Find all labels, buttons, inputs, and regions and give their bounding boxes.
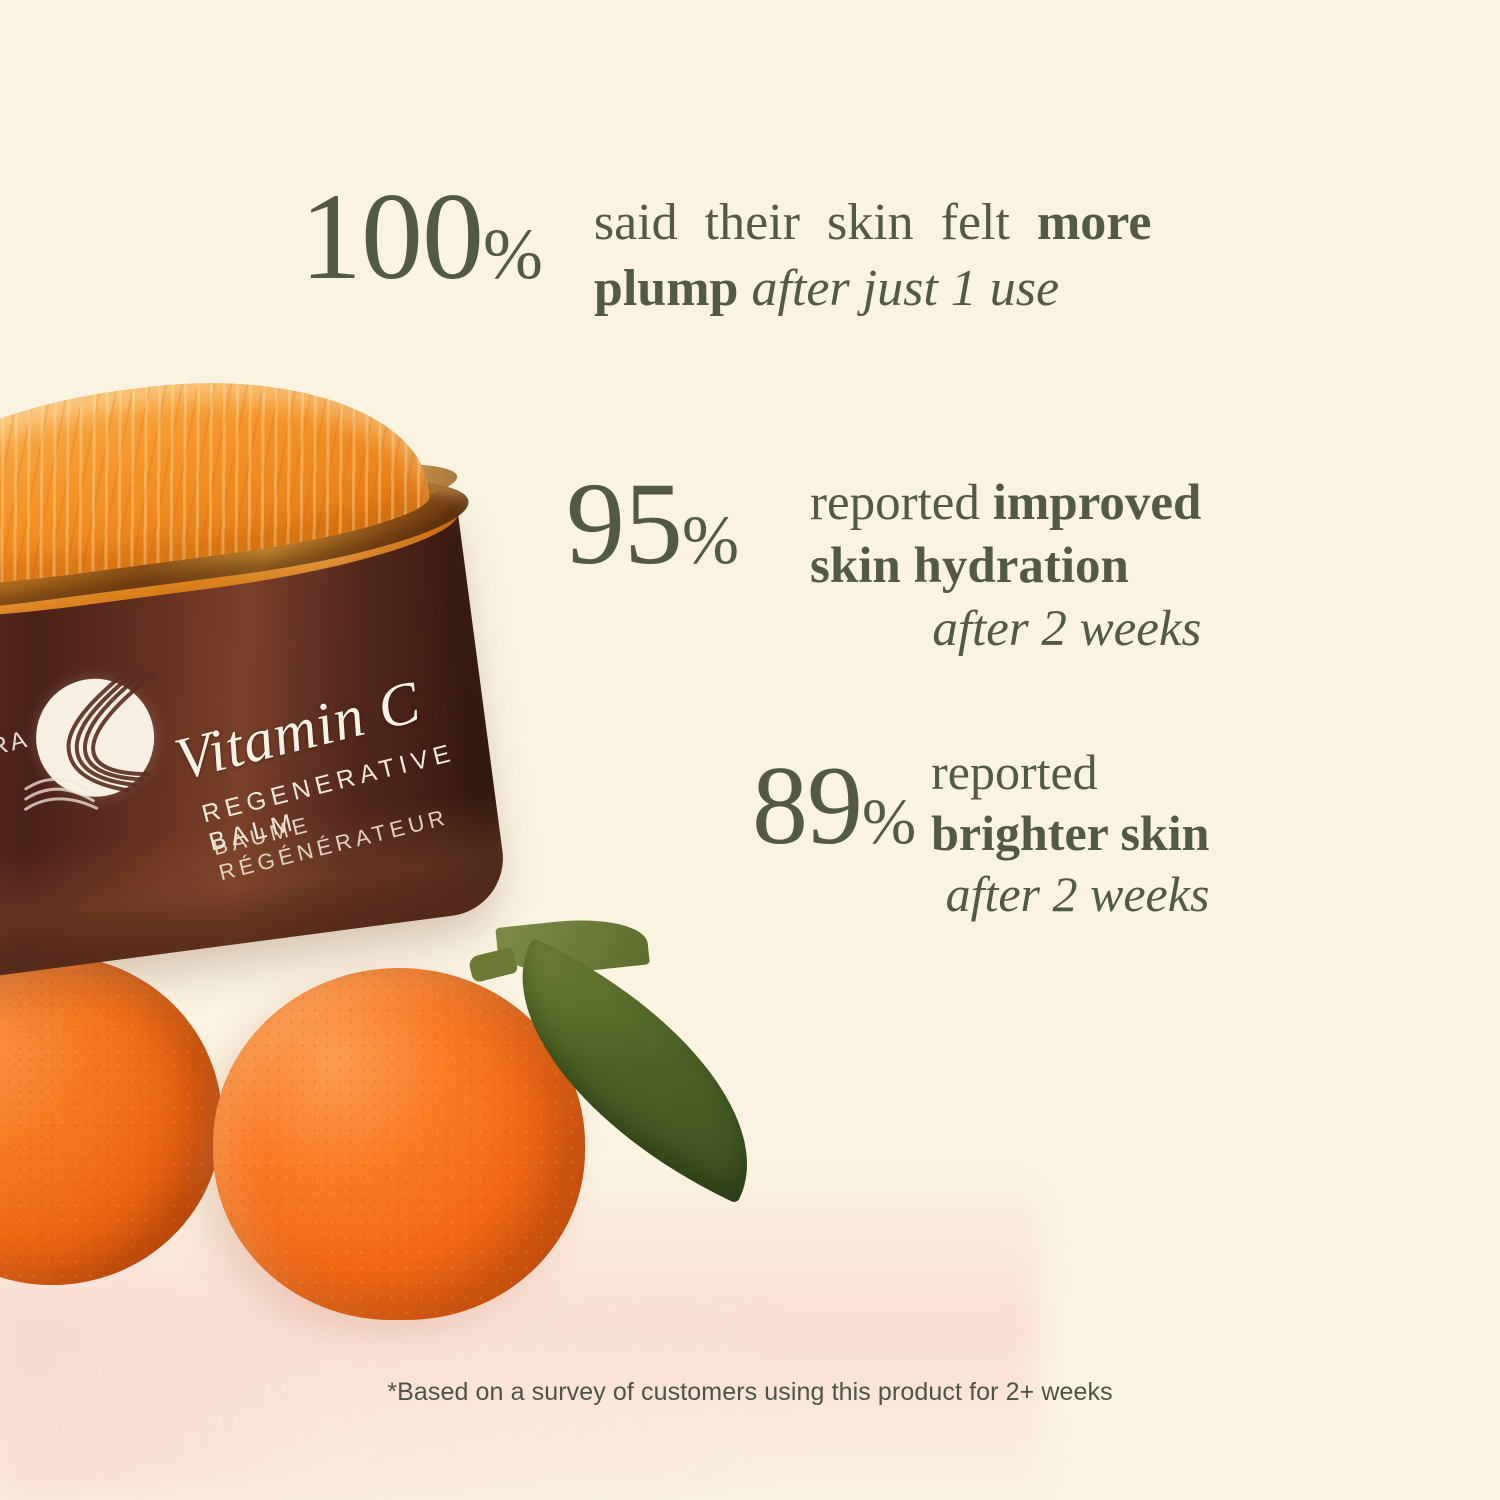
- percent-symbol-icon: %: [862, 786, 915, 858]
- stat-line-2: skin hydration: [810, 535, 1201, 598]
- stat-block-hydration: 95% reported improved skin hydration aft…: [566, 460, 1201, 662]
- stat-copy-brightness: reported brighter skin after 2 weeks: [931, 742, 1209, 925]
- stat-line-1-bold: more: [1037, 194, 1152, 251]
- stat-block-plump: 100% said their skin felt more plump aft…: [300, 168, 1151, 321]
- stat-line-2-italic: after just 1 use: [751, 260, 1059, 317]
- stat-percent-value: 95: [566, 458, 682, 589]
- stat-line-3-italic: after 2 weeks: [932, 601, 1201, 657]
- stat-line-2-bold: skin hydration: [810, 538, 1129, 594]
- percent-symbol-icon: %: [682, 502, 738, 578]
- survey-footnote: *Based on a survey of customers using th…: [0, 1378, 1500, 1407]
- stat-percent-89: 89%: [752, 742, 915, 862]
- stat-line-3: after 2 weeks: [931, 864, 1209, 925]
- stat-line-1: reported improved: [810, 472, 1201, 535]
- statistics-column: 100% said their skin felt more plump aft…: [0, 0, 1500, 1500]
- stat-block-brightness: 89% reported brighter skin after 2 weeks: [752, 742, 1209, 925]
- stat-copy-plump: said their skin felt more plump after ju…: [594, 168, 1152, 321]
- stat-line-2: plump after just 1 use: [594, 256, 1152, 322]
- stat-line-1-regular: reported: [810, 475, 993, 531]
- stat-line-3: after 2 weeks: [810, 598, 1201, 661]
- stat-line-2-bold: plump: [594, 260, 752, 317]
- stat-line-1-regular: said their skin felt: [594, 194, 1037, 251]
- stat-percent-value: 100: [300, 168, 483, 305]
- stat-percent-value: 89: [752, 744, 862, 868]
- stat-percent-100: 100%: [300, 168, 542, 298]
- stat-line-1-bold: improved: [993, 475, 1202, 531]
- stat-percent-95: 95%: [566, 460, 738, 582]
- stat-line-1: reported: [931, 742, 1209, 803]
- stat-line-3-italic: after 2 weeks: [946, 866, 1210, 922]
- stat-line-1: said their skin felt more: [594, 190, 1152, 256]
- marketing-claim-graphic: RA Vitamin C REGENERATIVE BALM BAUME RÉG…: [0, 0, 1500, 1500]
- stat-copy-hydration: reported improved skin hydration after 2…: [810, 460, 1201, 662]
- percent-symbol-icon: %: [483, 214, 542, 294]
- stat-line-2: brighter skin: [931, 803, 1209, 864]
- stat-line-2-bold: brighter skin: [931, 805, 1209, 861]
- stat-line-1-regular: reported: [931, 744, 1098, 800]
